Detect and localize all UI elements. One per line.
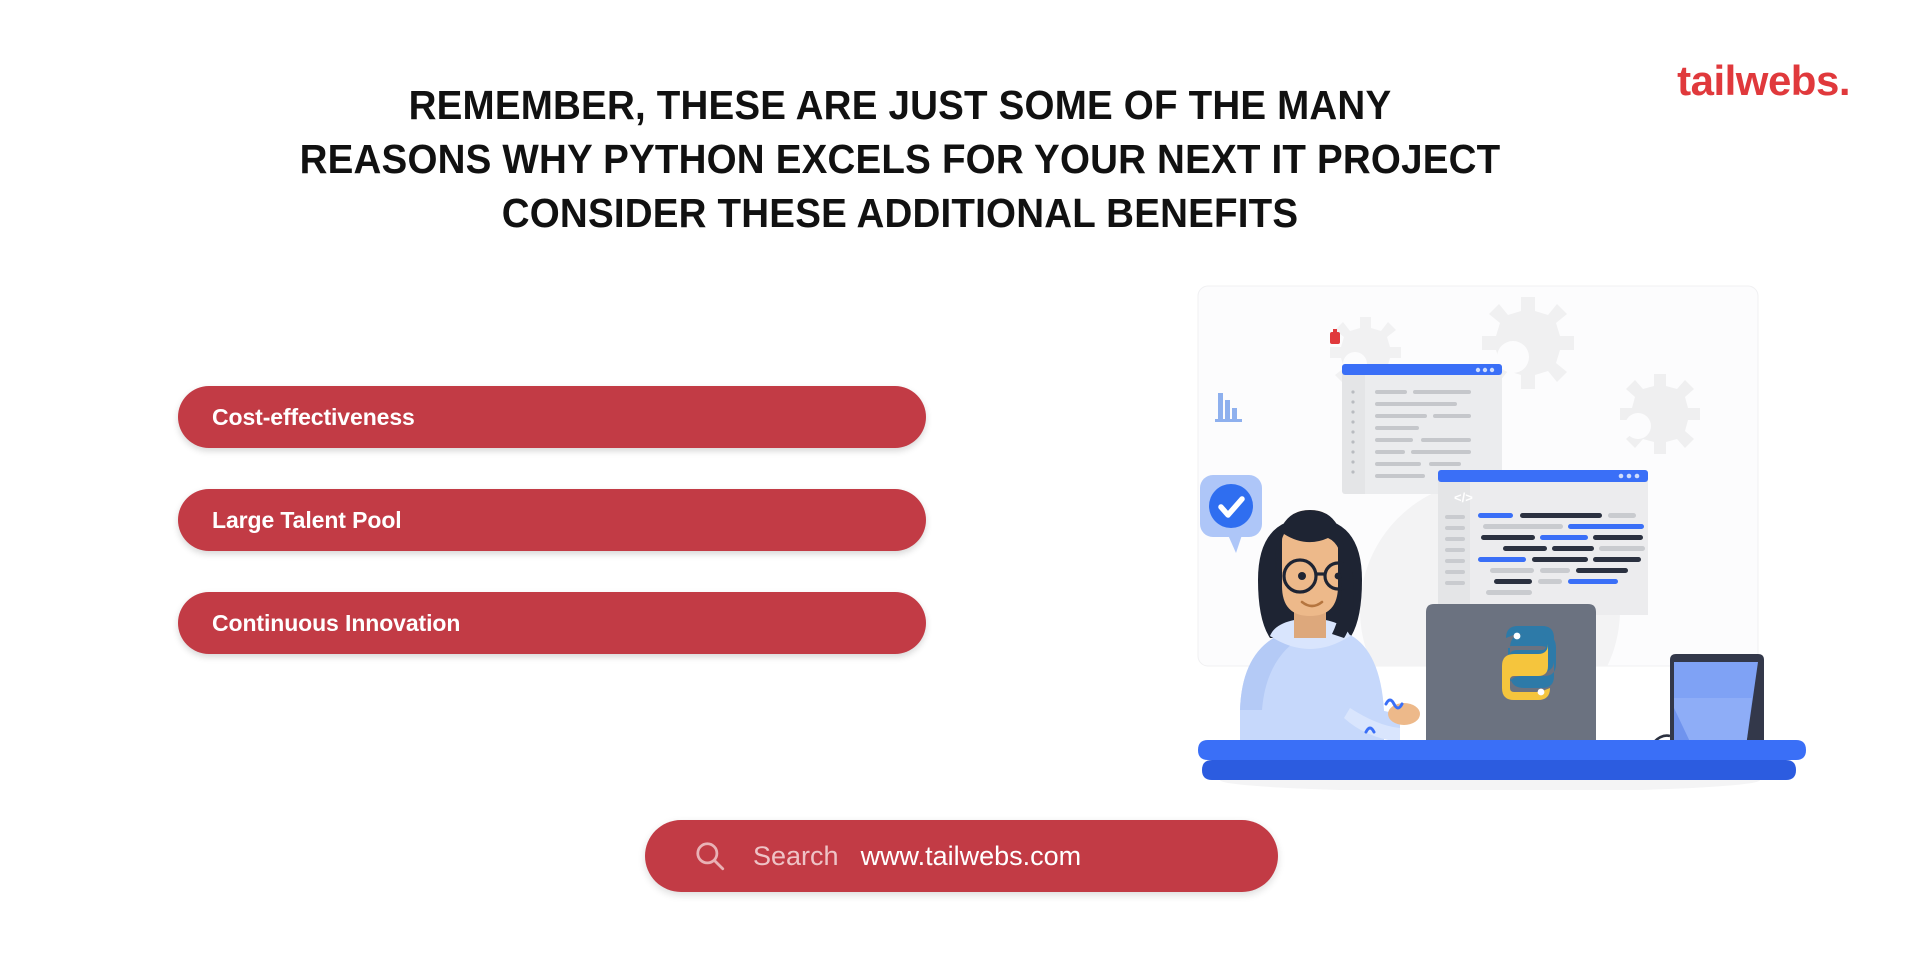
benefit-label: Cost-effectiveness [212,404,415,431]
benefits-list: Cost-effectiveness Large Talent Pool Con… [178,386,926,654]
page-title-line-1: REMEMBER, THESE ARE JUST SOME OF THE MAN… [280,78,1521,132]
benefit-label: Large Talent Pool [212,507,402,534]
illustration-svg: </> [1190,280,1810,790]
search-icon [693,839,727,873]
benefit-pill-large-talent-pool[interactable]: Large Talent Pool [178,489,926,551]
page-title: REMEMBER, THESE ARE JUST SOME OF THE MAN… [280,78,1521,240]
search-placeholder-label: Search [753,841,839,872]
page-title-line-2: REASONS WHY PYTHON EXCELS FOR YOUR NEXT … [280,132,1521,186]
benefit-pill-cost-effectiveness[interactable]: Cost-effectiveness [178,386,926,448]
desk [1198,740,1806,790]
gear-icon [1620,374,1700,454]
benefit-pill-continuous-innovation[interactable]: Continuous Innovation [178,592,926,654]
browser-window-code-editor: </> [1438,470,1648,615]
benefit-label: Continuous Innovation [212,610,460,637]
slide-root: tailwebs. REMEMBER, THESE ARE JUST SOME … [0,0,1920,960]
page-title-line-3: CONSIDER THESE ADDITIONAL BENEFITS [280,186,1521,240]
search-input-value[interactable]: www.tailwebs.com [861,841,1082,872]
search-bar[interactable]: Search www.tailwebs.com [645,820,1278,892]
brand-logo: tailwebs. [1677,60,1850,102]
tablet [1670,654,1764,746]
code-tag-icon: </> [1454,490,1473,505]
developer-coding-python-illustration: </> [1190,280,1810,790]
laptop-with-python-logo [1398,604,1624,758]
